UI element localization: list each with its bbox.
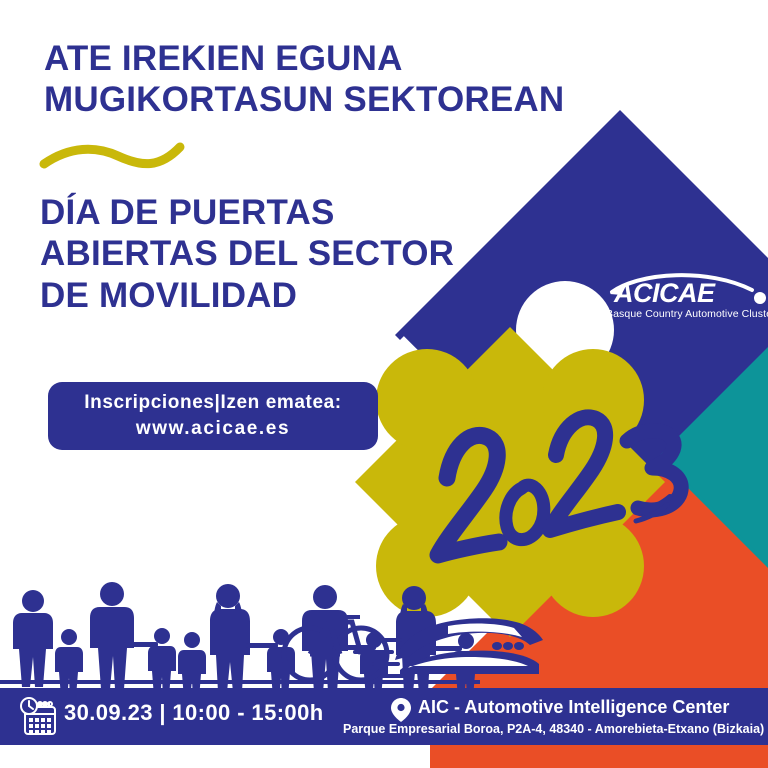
headline-spanish: DÍA DE PUERTAS ABIERTAS DEL SECTOR DE MO… xyxy=(40,192,454,316)
headline-basque: ATE IREKIEN EGUNA MUGIKORTASUN SEKTOREAN xyxy=(44,38,564,121)
footer-date-time: 30.09.23 | 10:00 - 15:00h xyxy=(64,700,324,726)
registration-box[interactable]: Inscripciones|Izen ematea: www.acicae.es xyxy=(48,382,378,450)
registration-url[interactable]: www.acicae.es xyxy=(136,416,290,442)
puzzle-piece-yellow xyxy=(355,327,665,637)
calendar-clock-icon xyxy=(16,696,62,738)
footer-venue-name: AIC - Automotive Intelligence Center xyxy=(418,697,729,718)
logo-dot-icon xyxy=(754,292,766,304)
acicae-wordmark: ACICAE xyxy=(614,278,715,309)
registration-label: Inscripciones|Izen ematea: xyxy=(84,390,341,416)
footer-venue-address: Parque Empresarial Boroa, P2A-4, 48340 -… xyxy=(343,722,764,736)
acicae-tagline: Basque Country Automotive Cluster xyxy=(606,308,768,320)
acicae-logo: ACICAE Basque Country Automotive Cluster xyxy=(600,264,768,326)
poster-canvas: ATE IREKIEN EGUNA MUGIKORTASUN SEKTOREAN… xyxy=(0,0,768,768)
yellow-wave-icon xyxy=(44,147,180,164)
map-pin-icon xyxy=(390,697,412,723)
